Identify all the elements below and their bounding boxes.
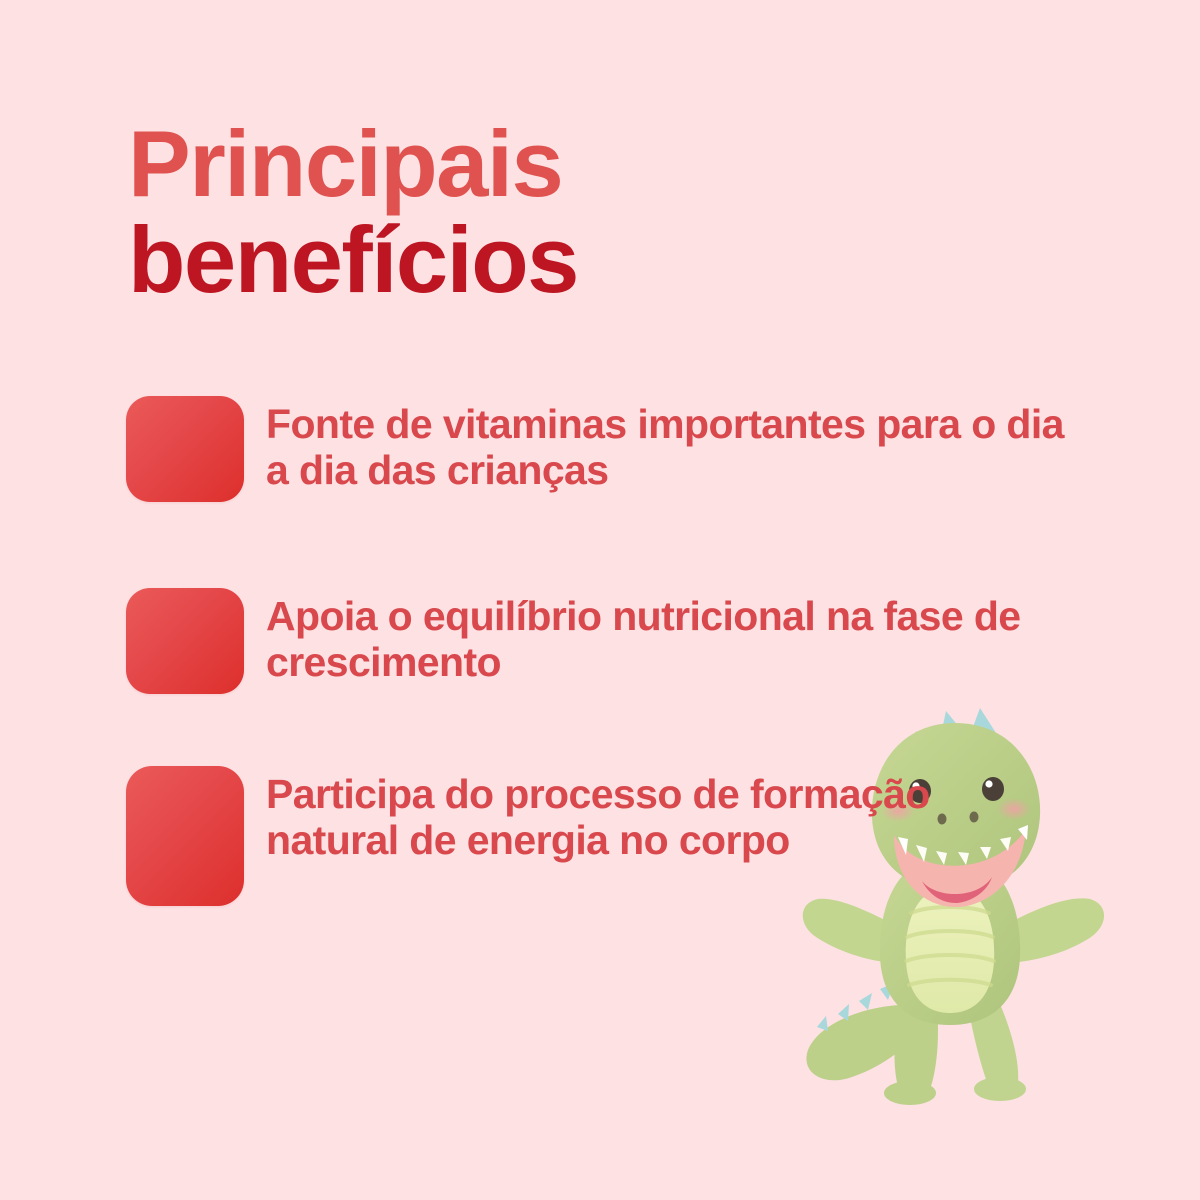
benefit-item-2: Apoia o equilíbrio nutricional na fase d…: [126, 588, 1066, 694]
page-title: Principais benefícios: [128, 118, 1028, 306]
poster-canvas: Principais benefícios Fonte de vitaminas…: [0, 0, 1200, 1200]
benefit-text-3: Participa do processo de formação natura…: [266, 766, 1066, 864]
benefit-text-1: Fonte de vitaminas importantes para o di…: [266, 396, 1066, 494]
page-title-line-1: Principais: [128, 118, 1028, 210]
benefit-item-3: Participa do processo de formação natura…: [126, 766, 1066, 906]
benefit-bullet-icon: [126, 396, 244, 502]
page-title-line-2: benefícios: [128, 214, 1028, 306]
benefit-item-1: Fonte de vitaminas importantes para o di…: [126, 396, 1066, 502]
benefit-bullet-icon: [126, 588, 244, 694]
benefit-bullet-icon: [126, 766, 244, 906]
benefit-text-2: Apoia o equilíbrio nutricional na fase d…: [266, 588, 1066, 686]
